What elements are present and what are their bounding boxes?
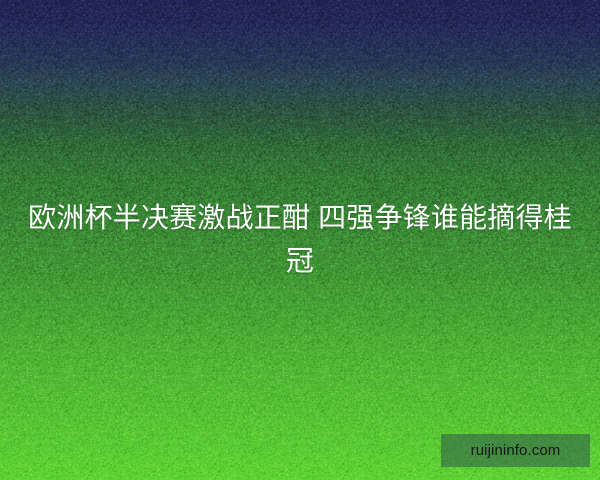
banner-headline: 欧洲杯半决赛激战正酣 四强争锋谁能摘得桂冠 [0,196,600,282]
watermark-label: ruijininfo.com [471,443,561,458]
banner-image: 欧洲杯半决赛激战正酣 四强争锋谁能摘得桂冠 ruijininfo.com [0,0,600,480]
watermark-badge: ruijininfo.com [441,434,590,467]
